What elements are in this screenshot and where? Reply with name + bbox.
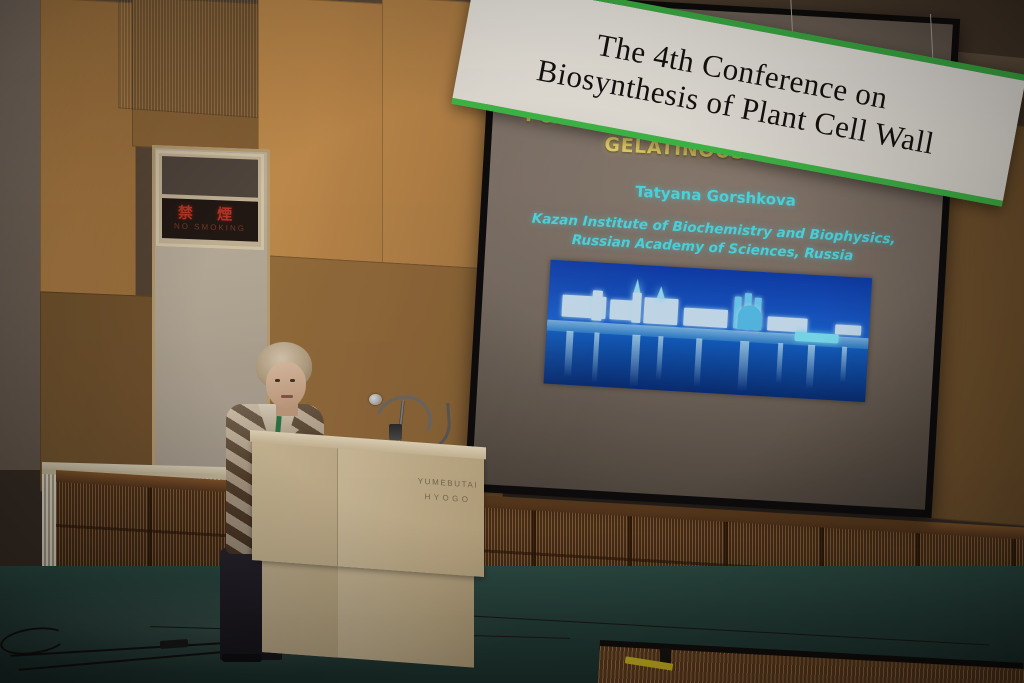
microphone-clamp [389, 424, 402, 440]
no-smoking-english-text: NO SMOKING [174, 221, 246, 234]
wood-panel-c [258, 0, 388, 274]
presenter-mouth [281, 395, 293, 398]
podium-left-face [252, 438, 338, 566]
slide-author-name: Tatyana Gorshkova [514, 176, 916, 217]
microphone-head-icon [369, 394, 382, 405]
presenter-shoes [222, 654, 262, 662]
sign-upper-blank [162, 156, 258, 198]
photo-tower [631, 293, 642, 323]
presenter-eye-left [275, 379, 280, 382]
photo-building [591, 290, 603, 321]
photo-building [643, 297, 678, 325]
no-smoking-sign: 禁 煙 NO SMOKING [162, 198, 258, 242]
presenter-face [266, 362, 306, 408]
kazan-kremlin-photo [544, 260, 873, 402]
photo-building [683, 308, 728, 329]
photo-mosque-dome [737, 305, 762, 330]
podium-base-left-face [262, 556, 338, 658]
photo-building [767, 316, 808, 332]
photo-cathedral-spire [657, 286, 666, 298]
conference-hall-photo: 禁 煙 NO SMOKING CELL WALL DESIGN AS THE B… [0, 0, 1024, 683]
photo-building [835, 324, 862, 335]
presenter-eye-right [290, 379, 295, 382]
podium-body [252, 438, 484, 577]
